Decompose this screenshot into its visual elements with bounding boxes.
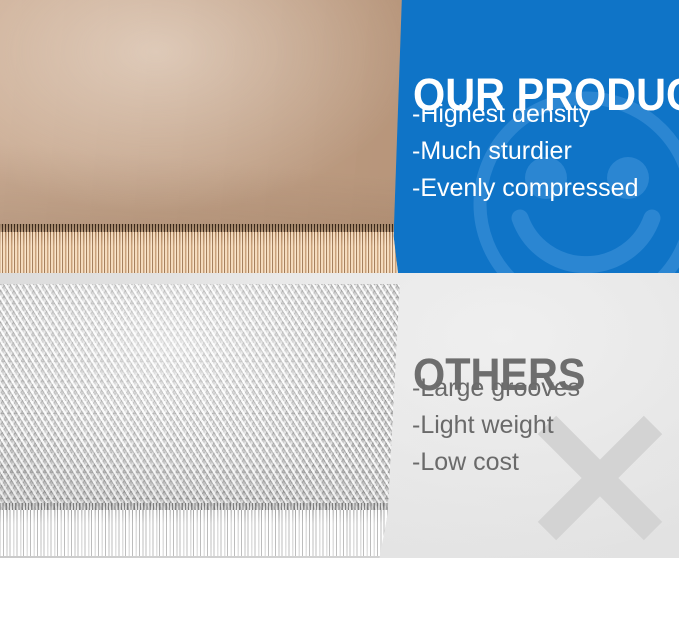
our-product-bullet-1: -Highest density (412, 102, 638, 127)
cardboard-flute-edge (0, 232, 410, 273)
cardboard-slab (0, 0, 410, 273)
caption-area: *The honey comb structure provides stren… (0, 558, 679, 643)
grey-mat-slab (0, 284, 408, 558)
product-comparison-infographic: OUR PRODUCT -Highest density -Much sturd… (0, 0, 679, 643)
our-product-bullet-list: -Highest density -Much sturdier -Evenly … (412, 102, 638, 213)
grey-mat-flute-edge (0, 510, 408, 556)
our-product-panel: OUR PRODUCT -Highest density -Much sturd… (0, 0, 679, 273)
others-bullet-2: -Light weight (412, 413, 580, 438)
others-bullet-1: -Large grooves (412, 376, 580, 401)
others-bullet-3: -Low cost (412, 450, 580, 475)
our-product-bullet-2: -Much sturdier (412, 139, 638, 164)
our-product-photo (0, 0, 410, 273)
others-product-photo (0, 284, 408, 558)
our-product-bullet-3: -Evenly compressed (412, 176, 638, 201)
others-bullet-list: -Large grooves -Light weight -Low cost (412, 376, 580, 487)
